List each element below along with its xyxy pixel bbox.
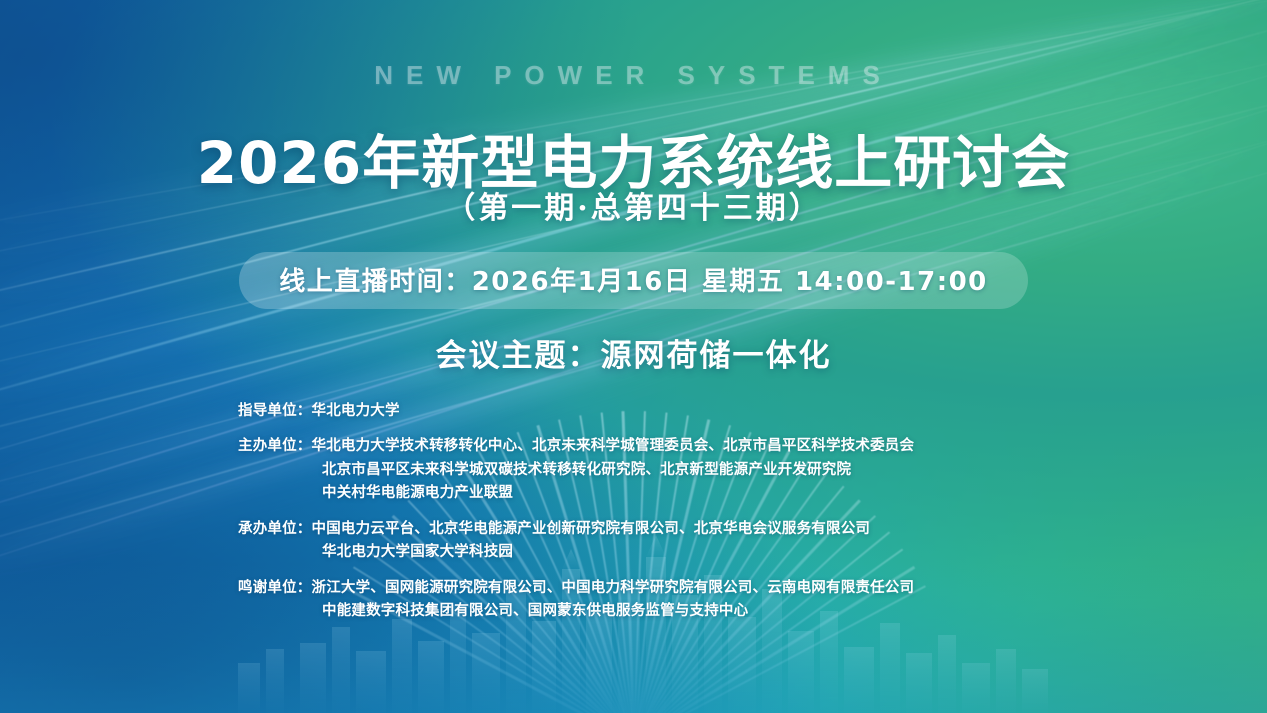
organization-line: 中关村华电能源电力产业联盟 [238,482,1207,505]
watermark-text: NEW POWER SYSTEMS [0,60,1267,91]
session-subtitle: （第一期·总第四十三期） [0,183,1267,227]
organization-line: 指导单位：华北电力大学 [238,400,1207,423]
organization-block: 指导单位：华北电力大学 [238,400,1207,423]
organization-line: 北京市昌平区未来科学城双碳技术转移转化研究院、北京新型能源产业开发研究院 [238,459,1207,482]
organization-block: 主办单位：华北电力大学技术转移转化中心、北京未来科学城管理委员会、北京市昌平区科… [238,435,1207,505]
organization-line: 中能建数字科技集团有限公司、国网蒙东供电服务监管与支持中心 [238,600,1207,623]
organization-block: 承办单位：中国电力云平台、北京华电能源产业创新研究院有限公司、北京华电会议服务有… [238,518,1207,565]
poster-content: NEW POWER SYSTEMS 2026年新型电力系统线上研讨会 （第一期·… [0,0,1267,713]
live-time-badge: 线上直播时间：2026年1月16日 星期五 14:00-17:00 [239,252,1028,309]
organization-line: 鸣谢单位：浙江大学、国网能源研究院有限公司、中国电力科学研究院有限公司、云南电网… [238,577,1207,600]
conference-theme: 会议主题：源网荷储一体化 [0,330,1267,375]
organization-block: 鸣谢单位：浙江大学、国网能源研究院有限公司、中国电力科学研究院有限公司、云南电网… [238,577,1207,624]
organization-line: 华北电力大学国家大学科技园 [238,541,1207,564]
organizations-list: 指导单位：华北电力大学主办单位：华北电力大学技术转移转化中心、北京未来科学城管理… [238,400,1207,624]
webinar-poster: NEW POWER SYSTEMS 2026年新型电力系统线上研讨会 （第一期·… [0,0,1267,713]
time-banner-wrap: 线上直播时间：2026年1月16日 星期五 14:00-17:00 [0,252,1267,309]
organization-line: 主办单位：华北电力大学技术转移转化中心、北京未来科学城管理委员会、北京市昌平区科… [238,435,1207,458]
organization-line: 承办单位：中国电力云平台、北京华电能源产业创新研究院有限公司、北京华电会议服务有… [238,518,1207,541]
